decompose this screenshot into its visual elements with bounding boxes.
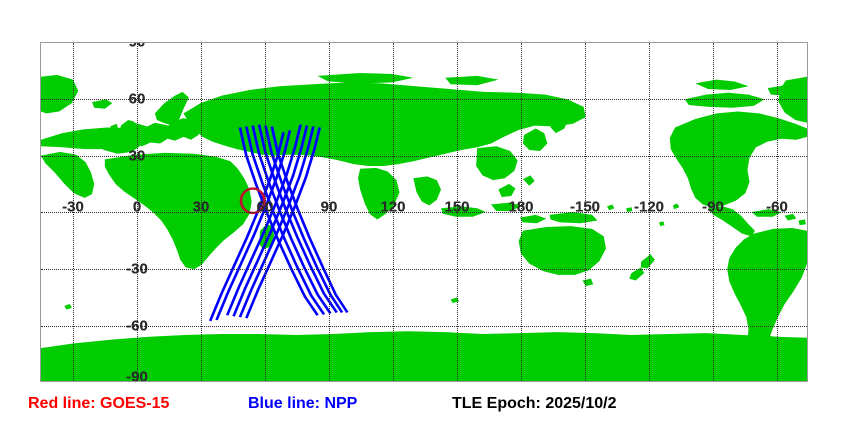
lat-tick-label: -60 [126, 319, 148, 334]
lat-tick-label: 90 [129, 42, 146, 50]
lon-tick-label: 180 [508, 200, 533, 215]
lon-tick-label: 90 [321, 200, 338, 215]
lon-tick-label: -120 [634, 200, 664, 215]
lon-tick-label: -60 [766, 200, 788, 215]
world-map-svg [41, 43, 807, 381]
legend-red-line-goes15: Red line: GOES-15 [28, 393, 169, 415]
lat-tick-label: -30 [126, 262, 148, 277]
lat-tick-label: 60 [129, 92, 146, 107]
legend-blue-line-npp: Blue line: NPP [248, 393, 357, 415]
lon-tick-label: -90 [702, 200, 724, 215]
legend-bar: Red line: GOES-15 Blue line: NPP TLE Epo… [0, 393, 850, 425]
lon-tick-label: -150 [570, 200, 600, 215]
world-map-plot: -30 0 30 60 90 120 150 180 -150 -120 -90… [40, 42, 808, 382]
lon-tick-label: 60 [257, 200, 274, 215]
lon-tick-label: -30 [62, 200, 84, 215]
lon-tick-label: 150 [444, 200, 469, 215]
lat-tick-label: -90 [126, 370, 148, 383]
lat-tick-label: 30 [129, 149, 146, 164]
lon-tick-label: 120 [380, 200, 405, 215]
lat-tick-label: 0 [133, 200, 141, 215]
lon-tick-label: 30 [193, 200, 210, 215]
legend-tle-epoch: TLE Epoch: 2025/10/2 [452, 393, 617, 415]
ground-track-map-page: -30 0 30 60 90 120 150 180 -150 -120 -90… [0, 0, 850, 425]
